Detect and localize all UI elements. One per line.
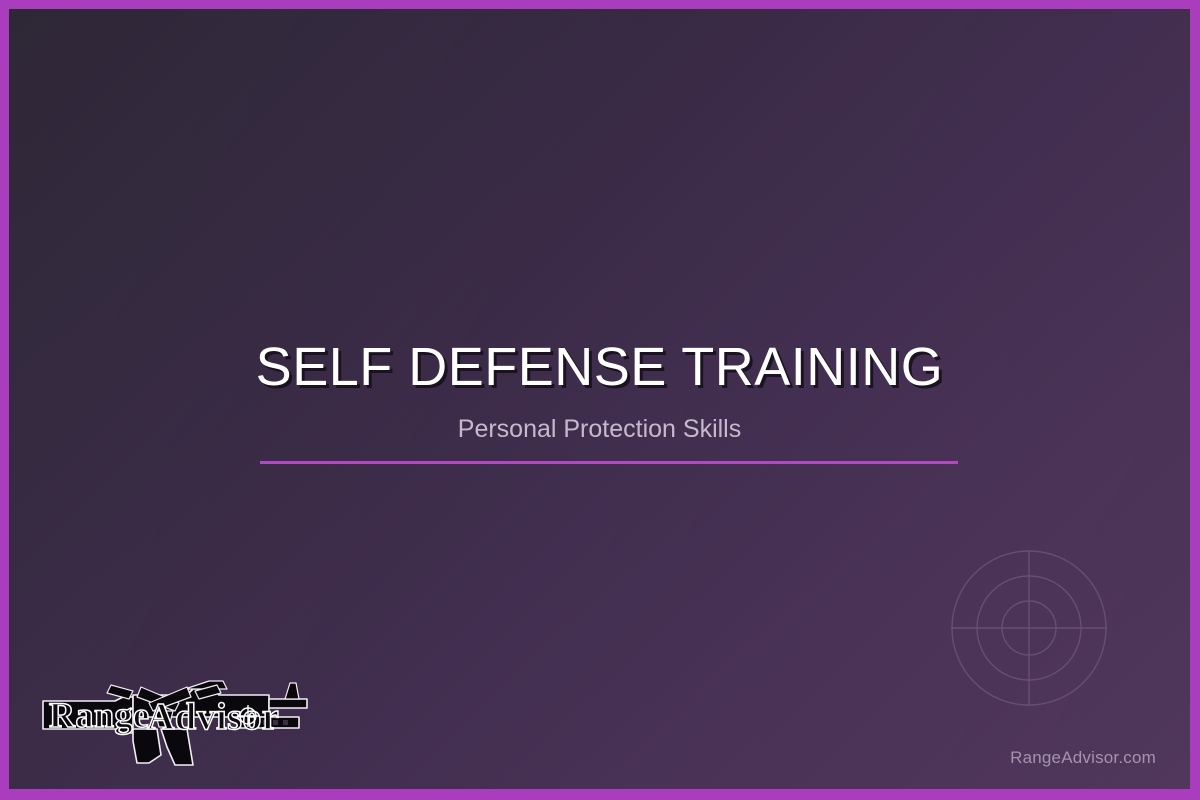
presentation-slide: SELF DEFENSE TRAINING Personal Protectio…: [0, 0, 1200, 800]
page-subtitle: Personal Protection Skills: [9, 416, 1190, 444]
rangeadvisor-rifle-logo: .blk { fill:#0a080c; stroke:#f2eef5; str…: [37, 671, 319, 767]
page-title: SELF DEFENSE TRAINING: [9, 339, 1190, 396]
title-divider: [260, 461, 958, 464]
footer-website-url: RangeAdvisor.com: [1010, 748, 1156, 768]
svg-text:Range: Range: [49, 695, 150, 735]
slide-canvas: SELF DEFENSE TRAINING Personal Protectio…: [9, 9, 1190, 789]
title-block: SELF DEFENSE TRAINING Personal Protectio…: [9, 339, 1190, 443]
svg-text:Advisor: Advisor: [147, 696, 279, 738]
crosshair-target-icon: [951, 550, 1107, 706]
